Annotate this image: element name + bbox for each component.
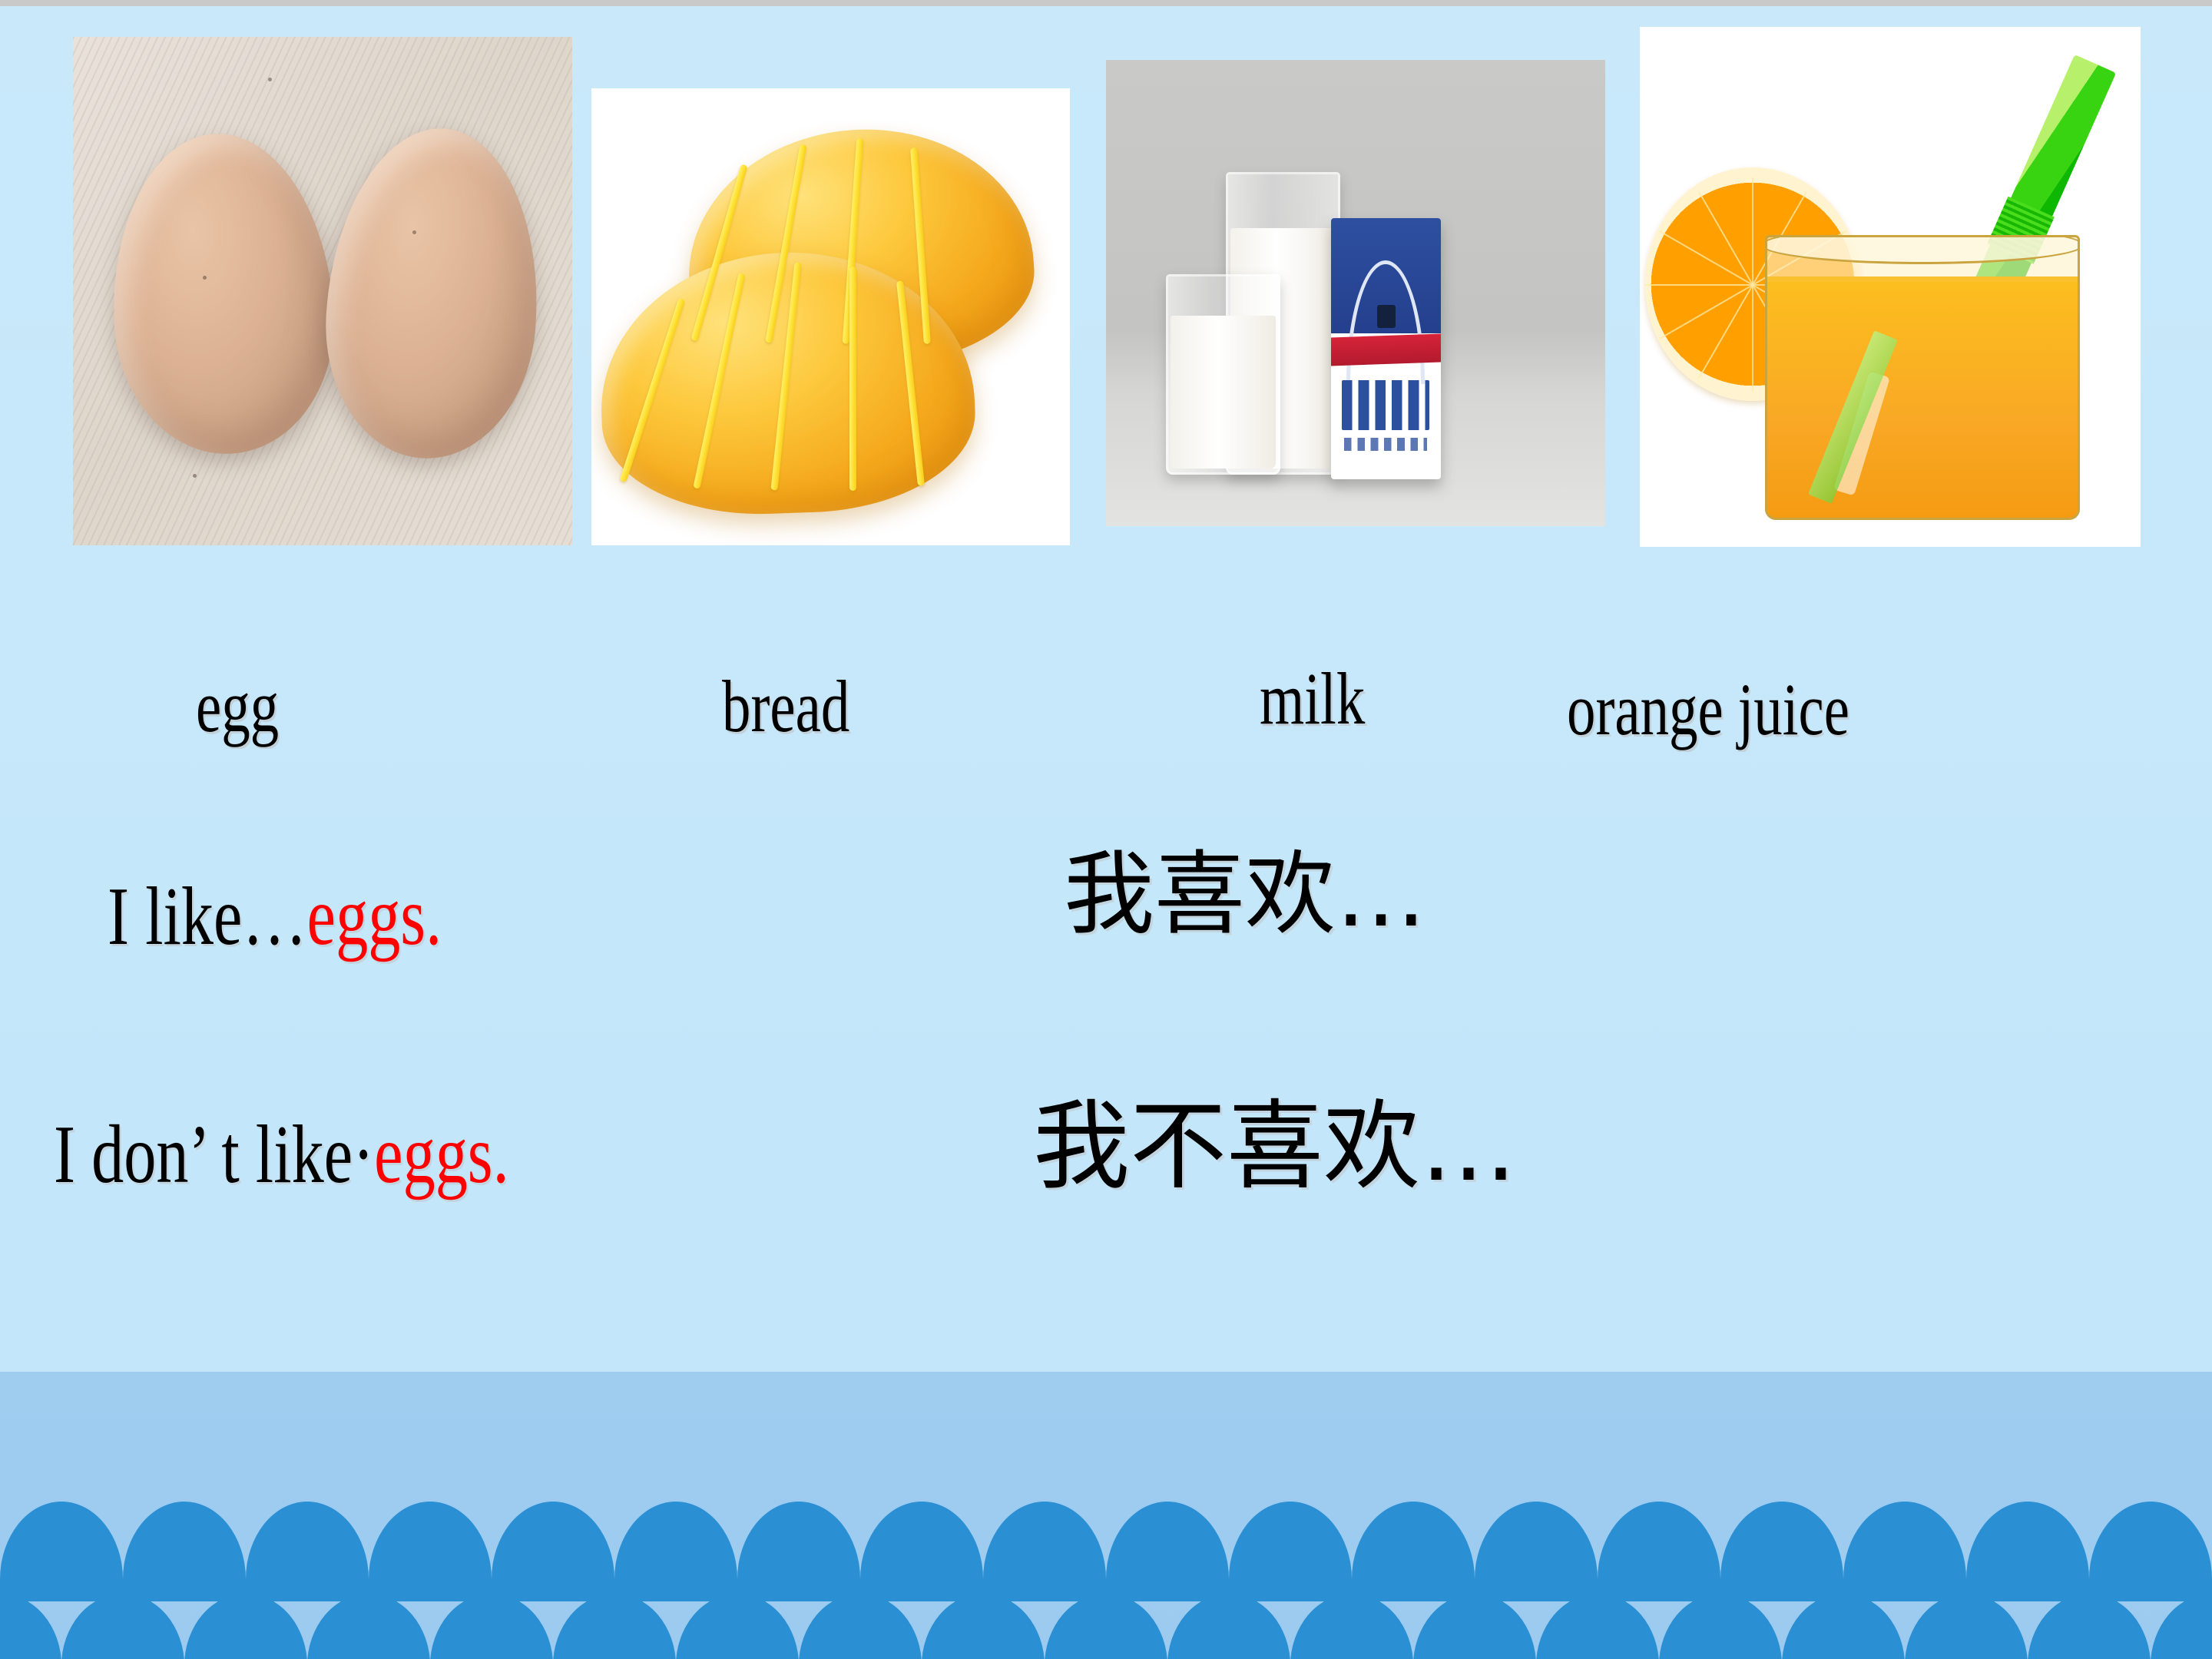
milk-carton-wordmark bbox=[1342, 380, 1429, 430]
scallop bbox=[1536, 1594, 1659, 1659]
scallop bbox=[1229, 1502, 1352, 1601]
scallop bbox=[1413, 1594, 1536, 1659]
slide: egg bread milk orange juice I like…eggs.… bbox=[0, 0, 2212, 1659]
scallop bbox=[369, 1502, 492, 1601]
scallop bbox=[246, 1502, 369, 1601]
orange-segment bbox=[1645, 284, 1753, 286]
egg-speck bbox=[412, 230, 416, 234]
scallop bbox=[1905, 1594, 2028, 1659]
scallop-row-bottom bbox=[0, 1594, 2212, 1659]
milk-carton-red-band bbox=[1331, 334, 1441, 366]
orange-segment bbox=[1752, 177, 1753, 285]
scallop bbox=[2151, 1594, 2212, 1659]
scallop bbox=[0, 1502, 123, 1601]
word-label-bread: bread bbox=[722, 670, 849, 743]
scallop bbox=[184, 1594, 307, 1659]
scallop bbox=[0, 1594, 61, 1659]
milk-photo bbox=[1106, 60, 1605, 526]
scallop bbox=[1167, 1594, 1290, 1659]
scallop bbox=[676, 1594, 799, 1659]
scallop bbox=[799, 1594, 922, 1659]
scallop bbox=[1966, 1502, 2089, 1601]
eggs-photo bbox=[73, 37, 572, 545]
milk-glass-short bbox=[1166, 274, 1280, 475]
scallop-row-top bbox=[0, 1502, 2212, 1601]
scallop bbox=[1720, 1502, 1843, 1601]
scallop bbox=[922, 1594, 1045, 1659]
sentence-i-dont-like-prefix: I don’ t like· bbox=[54, 1109, 374, 1200]
orange-segment bbox=[1698, 191, 1753, 285]
scallop bbox=[1598, 1502, 1720, 1601]
cow-icon bbox=[1377, 305, 1396, 329]
orange-segment bbox=[1752, 285, 1753, 392]
sentence-i-like-prefix: I like… bbox=[108, 871, 307, 962]
sentence-i-dont-like-chinese: 我不喜欢… bbox=[1033, 1098, 1517, 1195]
scallop bbox=[430, 1594, 553, 1659]
bread-drizzle bbox=[849, 267, 856, 491]
bread-photo bbox=[591, 88, 1070, 545]
scallop bbox=[1475, 1502, 1598, 1601]
top-edge-strip bbox=[0, 0, 2212, 6]
scallop bbox=[737, 1502, 860, 1601]
sentence-i-dont-like: I don’ t like·eggs. bbox=[54, 1114, 509, 1197]
word-label-milk: milk bbox=[1260, 662, 1365, 736]
sentence-i-like-highlight: eggs. bbox=[307, 871, 442, 962]
scallop bbox=[2089, 1502, 2212, 1601]
scallop bbox=[1045, 1594, 1167, 1659]
word-label-egg: egg bbox=[196, 670, 279, 743]
egg-speck bbox=[268, 78, 272, 81]
scallop bbox=[1843, 1502, 1966, 1601]
scallop bbox=[1290, 1594, 1413, 1659]
juice-glass bbox=[1765, 235, 2080, 521]
scallop bbox=[61, 1594, 184, 1659]
orange-juice-photo bbox=[1640, 27, 2141, 547]
word-label-orange-juice: orange juice bbox=[1567, 673, 1849, 747]
scallop bbox=[123, 1502, 246, 1601]
sentence-i-dont-like-highlight: eggs. bbox=[374, 1109, 508, 1200]
milk-fill bbox=[1171, 316, 1276, 469]
sentence-i-like-chinese: 我喜欢… bbox=[1064, 849, 1426, 939]
scallop bbox=[492, 1502, 614, 1601]
orange-segment bbox=[1659, 230, 1753, 286]
milk-carton-subtext bbox=[1344, 438, 1428, 451]
scallop bbox=[553, 1594, 676, 1659]
orange-segment bbox=[1659, 284, 1753, 339]
scallop bbox=[2028, 1594, 2151, 1659]
sentence-i-like: I like…eggs. bbox=[108, 876, 442, 959]
scallop bbox=[1352, 1502, 1475, 1601]
scallop bbox=[307, 1594, 430, 1659]
glass-rim bbox=[1765, 235, 2080, 264]
scallop bbox=[614, 1502, 737, 1601]
scallop bbox=[1659, 1594, 1782, 1659]
scallop bbox=[983, 1502, 1106, 1601]
scallop bbox=[1782, 1594, 1905, 1659]
scallop bbox=[860, 1502, 983, 1601]
scallop bbox=[1106, 1502, 1229, 1601]
milk-carton bbox=[1331, 218, 1441, 479]
